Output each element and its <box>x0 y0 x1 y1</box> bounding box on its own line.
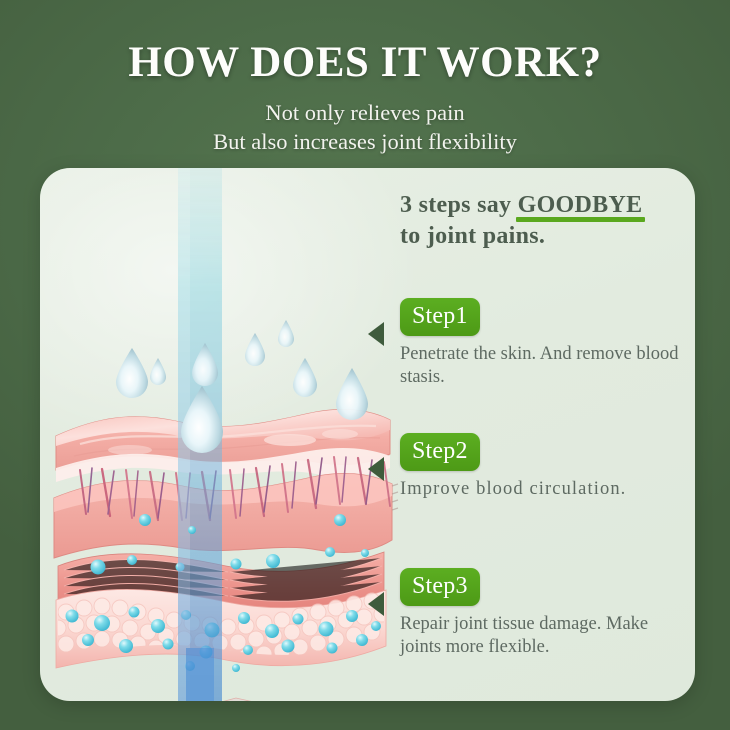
step-3-description: Repair joint tissue damage. Make joints … <box>400 613 690 660</box>
infographic-root: HOW DOES IT WORK? Not only relieves pain… <box>0 0 730 730</box>
layer3-joint-block <box>96 698 376 701</box>
steps-column: 3 steps say GOODBYE to joint pains. Step… <box>400 190 690 251</box>
content-card: 3 steps say GOODBYE to joint pains. Step… <box>40 168 695 701</box>
highlight-underline <box>516 217 646 222</box>
headline-highlight-wrap: GOODBYE <box>518 190 643 221</box>
headline-line-2: to joint pains. <box>400 223 545 249</box>
triangle-pointer-icon <box>368 457 384 481</box>
subtitle-line-2: But also increases joint flexibility <box>0 126 730 155</box>
page-title: HOW DOES IT WORK? <box>0 0 730 87</box>
step-3-badge: Step3 <box>400 568 480 606</box>
subtitle-line-1: Not only relieves pain <box>0 87 730 126</box>
skin-absorption-illustration <box>40 168 400 701</box>
card-headline: 3 steps say GOODBYE to joint pains. <box>400 190 690 251</box>
step-1-badge: Step1 <box>400 298 480 336</box>
triangle-pointer-icon <box>368 592 384 616</box>
header: HOW DOES IT WORK? Not only relieves pain… <box>0 0 730 156</box>
headline-highlight: GOODBYE <box>518 192 643 218</box>
step-1: Step1 Penetrate the skin. And remove blo… <box>400 298 690 390</box>
step-2-badge: Step2 <box>400 433 480 471</box>
step-3: Step3 Repair joint tissue damage. Make j… <box>400 568 690 660</box>
triangle-pointer-icon <box>368 322 384 346</box>
step-1-description: Penetrate the skin. And remove blood sta… <box>400 343 690 390</box>
step-2-description: Improve blood circulation. <box>400 478 690 501</box>
headline-prefix: 3 steps say <box>400 192 518 218</box>
step-2: Step2 Improve blood circulation. <box>400 433 690 501</box>
layer1-skin <box>54 410 398 558</box>
